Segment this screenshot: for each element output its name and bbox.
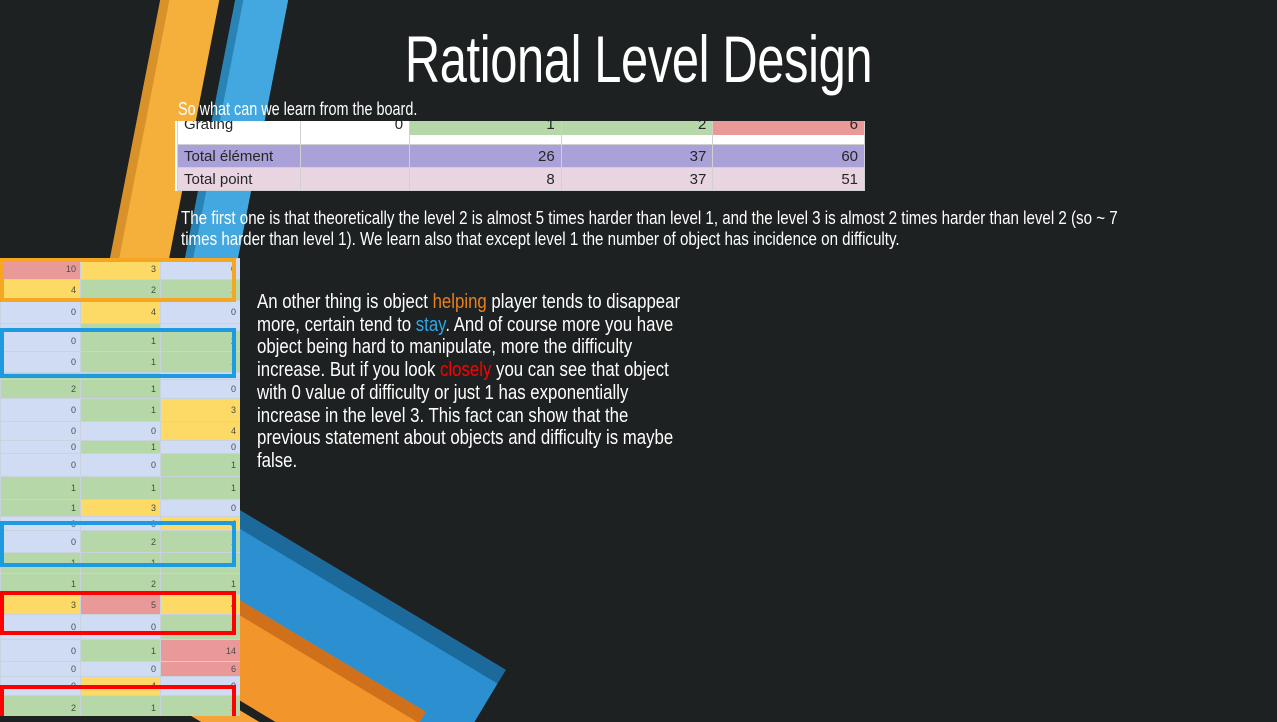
cell-value: 1	[81, 553, 161, 574]
cell-value: 1	[161, 531, 241, 553]
spreadsheet-fragment: 1030421040012011210013004010001111130004…	[0, 258, 240, 716]
cell-value: 0	[161, 441, 241, 454]
cell-value: 0	[301, 121, 410, 136]
cell-value: 4	[81, 301, 161, 324]
cell-value: 0	[1, 531, 81, 553]
page-title: Rational Level Design	[166, 22, 1111, 96]
cell-value: 1	[161, 352, 241, 373]
cell-value: 1	[81, 441, 161, 454]
cell-value: 37	[561, 168, 713, 191]
cell-value: 1	[161, 454, 241, 477]
slide-canvas: Rational Level Design So what can we lea…	[0, 0, 1277, 722]
cell-value: 1	[161, 553, 241, 574]
cell-value: 0	[1, 399, 81, 422]
cell-value: 51	[713, 168, 865, 191]
cell-value: 2	[81, 280, 161, 301]
cell-value: 0	[161, 301, 241, 324]
cell-value	[81, 324, 161, 331]
highlight-stay: stay	[416, 314, 446, 336]
cell-value: 1	[81, 352, 161, 373]
table-row: 421	[1, 280, 241, 301]
cell-value: 0	[1, 441, 81, 454]
cell-value: 0	[1, 422, 81, 441]
cell-value: 1	[1, 553, 81, 574]
table-row: 011	[1, 352, 241, 373]
cell-value: 1	[1, 477, 81, 500]
cell-value: 0	[81, 422, 161, 441]
cell-value: 8	[410, 168, 562, 191]
cell-value: 1	[81, 696, 161, 717]
table-row: 111	[1, 553, 241, 574]
cell-value: 0	[161, 500, 241, 517]
table-row: 210	[1, 380, 241, 399]
cell-value: 1	[81, 331, 161, 352]
cell-value: 0	[1, 517, 81, 531]
cell-value: 1	[81, 640, 161, 662]
table-row: 013	[1, 399, 241, 422]
table-row: 001	[1, 615, 241, 640]
table-row: 121	[1, 574, 241, 595]
cell-value: 37	[561, 145, 713, 168]
cell-value: 0	[1, 301, 81, 324]
para2-part1: An other thing is object	[257, 291, 433, 313]
cell-value: 14	[161, 640, 241, 662]
cell-value: 1	[81, 477, 161, 500]
table-row: 021	[1, 531, 241, 553]
cell-value: 4	[161, 422, 241, 441]
cell-value: 1	[81, 380, 161, 399]
row-label: Total élément	[178, 145, 301, 168]
cell-value: 6	[161, 662, 241, 677]
summary-table-grid: Grating 0 1 2 6 Total élément 26 37 60 T…	[177, 121, 865, 191]
cell-value: 26	[410, 145, 562, 168]
cell-value: 1	[161, 696, 241, 717]
table-row	[178, 191, 865, 192]
cell-value: 6	[713, 121, 865, 136]
highlight-closely: closely	[440, 359, 491, 381]
table-row: 111	[1, 477, 241, 500]
cell-value: 4	[81, 677, 161, 696]
row-label: Grating	[178, 121, 301, 136]
cell-value: 1	[1, 574, 81, 595]
table-row: 004	[1, 422, 241, 441]
table-row: Grating 0 1 2 6	[178, 122, 865, 145]
cell-value	[81, 373, 161, 380]
cell-value: 1	[81, 399, 161, 422]
page-subtitle: So what can we learn from the board.	[178, 98, 417, 120]
table-row: 004	[1, 517, 241, 531]
table-row	[1, 324, 241, 331]
table-row: 040	[1, 677, 241, 696]
cell-value: 3	[81, 259, 161, 280]
cell-value: 3	[161, 399, 241, 422]
table-row: 012	[1, 331, 241, 352]
cell-value: 0	[1, 677, 81, 696]
cell-value: 0	[81, 662, 161, 677]
table-row: 0114	[1, 640, 241, 662]
table-row: 040	[1, 301, 241, 324]
paragraph-two: An other thing is object helping player …	[257, 291, 694, 473]
cell-value: 1	[161, 615, 241, 640]
cell-value: 4	[161, 595, 241, 615]
cell-value: 0	[1, 640, 81, 662]
cell-empty	[178, 191, 301, 192]
cell-value: 2	[561, 121, 713, 136]
cell-empty	[561, 191, 713, 192]
table-row: 211	[1, 696, 241, 717]
table-row: 001	[1, 454, 241, 477]
cell-empty	[713, 191, 865, 192]
paragraph-one: The first one is that theoretically the …	[181, 208, 1149, 250]
cell-value: 10	[1, 259, 81, 280]
table-row	[1, 373, 241, 380]
cell-value: 0	[1, 331, 81, 352]
spreadsheet-grid: 1030421040012011210013004010001111130004…	[0, 258, 240, 716]
cell-value: 1	[1, 500, 81, 517]
cell-value: 0	[81, 454, 161, 477]
cell-value: 3	[81, 500, 161, 517]
table-row: 006	[1, 662, 241, 677]
cell-value: 1	[410, 121, 562, 136]
cell-value: 0	[1, 662, 81, 677]
cell-value: 2	[81, 531, 161, 553]
cell-value	[1, 324, 81, 331]
summary-table: Grating 0 1 2 6 Total élément 26 37 60 T…	[175, 121, 865, 191]
cell-value	[301, 168, 410, 191]
cell-value: 0	[161, 259, 241, 280]
cell-value: 0	[81, 615, 161, 640]
cell-value: 3	[1, 595, 81, 615]
cell-value: 0	[1, 615, 81, 640]
cell-value: 4	[161, 517, 241, 531]
cell-value: 2	[1, 380, 81, 399]
cell-value: 1	[161, 477, 241, 500]
table-row: 1030	[1, 259, 241, 280]
cell-value: 0	[81, 517, 161, 531]
cell-value: 1	[161, 280, 241, 301]
cell-value: 2	[81, 574, 161, 595]
cell-value: 0	[1, 352, 81, 373]
table-row: Total point 8 37 51	[178, 168, 865, 191]
table-row: Total élément 26 37 60	[178, 145, 865, 168]
cell-value: 5	[81, 595, 161, 615]
cell-value: 60	[713, 145, 865, 168]
row-label: Total point	[178, 168, 301, 191]
table-row: 010	[1, 441, 241, 454]
cell-value: 0	[1, 454, 81, 477]
cell-empty	[410, 191, 562, 192]
cell-value: 2	[1, 696, 81, 717]
table-row: 130	[1, 500, 241, 517]
cell-value: 4	[1, 280, 81, 301]
cell-value: 1	[161, 574, 241, 595]
cell-empty	[301, 191, 410, 192]
cell-value	[161, 324, 241, 331]
cell-value: 2	[161, 331, 241, 352]
cell-value	[301, 145, 410, 168]
cell-value	[1, 373, 81, 380]
highlight-helping: helping	[433, 291, 487, 313]
cell-value: 0	[161, 380, 241, 399]
table-row: 354	[1, 595, 241, 615]
cell-value	[161, 373, 241, 380]
cell-value: 0	[161, 677, 241, 696]
